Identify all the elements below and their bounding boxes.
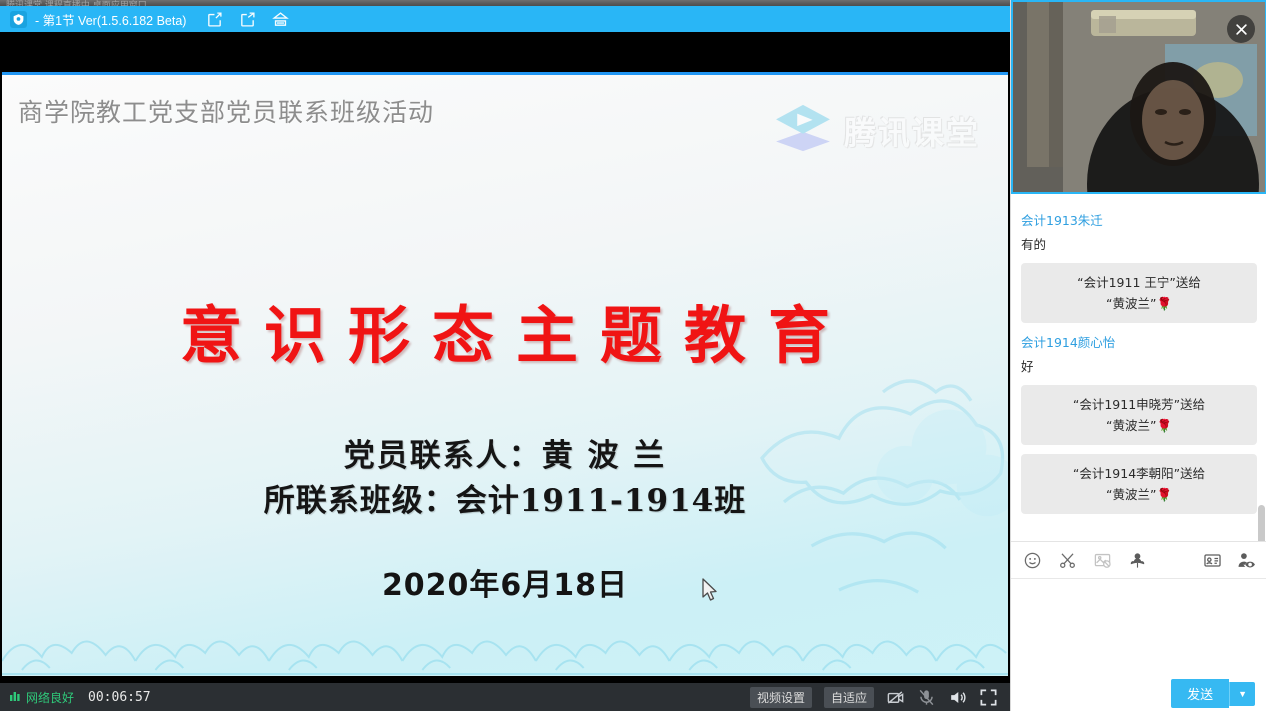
slide-contact-line: 党员联系人：黄 波 兰 bbox=[2, 430, 1008, 475]
upload-home-icon[interactable] bbox=[272, 11, 289, 28]
gift-line-2: “黄波兰”🌹 bbox=[1029, 293, 1249, 314]
fullscreen-icon[interactable] bbox=[979, 688, 998, 707]
slide-class-line: 所联系班级：会计1911-1914班 bbox=[2, 475, 1008, 520]
edit-square-icon[interactable] bbox=[206, 11, 223, 28]
emoji-smiley-icon[interactable] bbox=[1023, 551, 1042, 570]
presenter-video[interactable] bbox=[1011, 0, 1266, 194]
gift-line-1: “会计1911申晓芳”送给 bbox=[1029, 394, 1249, 415]
chat-sender-name: 会计1914颜心怡 bbox=[1021, 332, 1257, 351]
image-disabled-icon bbox=[1093, 551, 1112, 570]
right-side-panel: 会计1913朱迁 有的 “会计1911 王宁”送给 “黄波兰”🌹 会计1914颜… bbox=[1010, 0, 1266, 711]
graduation-cap-play-icon bbox=[772, 103, 834, 158]
chat-toolbar bbox=[1011, 541, 1266, 579]
gift-receiver: “黄波兰” bbox=[1106, 296, 1156, 311]
chat-sender-name: 会计1913朱迁 bbox=[1021, 210, 1257, 229]
flower-gift-icon[interactable] bbox=[1128, 551, 1147, 570]
chat-item: 会计1913朱迁 有的 bbox=[1021, 210, 1257, 253]
gift-receiver: “黄波兰” bbox=[1106, 418, 1156, 433]
adaptive-quality-button[interactable]: 自适应 bbox=[824, 687, 874, 708]
video-settings-button[interactable]: 视频设置 bbox=[750, 687, 812, 708]
player-actions: 视频设置 自适应 bbox=[750, 687, 1010, 708]
chevron-down-icon[interactable]: ▼ bbox=[1229, 682, 1255, 706]
chat-message-text: 好 bbox=[1021, 356, 1257, 375]
network-status-label: 网络良好 bbox=[26, 689, 74, 706]
presentation-slide[interactable]: 商学院教工党支部党员联系班级活动 腾讯课堂 意识形态主题教育 党员联系人：黄 波… bbox=[2, 72, 1008, 676]
elapsed-time: 00:06:57 bbox=[88, 690, 151, 705]
player-control-bar: 网络良好 00:06:57 视频设置 自适应 bbox=[0, 683, 1010, 711]
gift-line-2: “黄波兰”🌹 bbox=[1029, 415, 1249, 436]
app-root: 腾讯课堂 课程直播中 桌面应用窗口 - 第1节 Ver(1.5.6.182 Be… bbox=[0, 0, 1266, 711]
mic-muted-icon[interactable] bbox=[917, 688, 936, 707]
slide-header-title: 商学院教工党支部党员联系班级活动 bbox=[18, 93, 434, 129]
chat-send-row: 发送 ▼ bbox=[1011, 676, 1266, 711]
rose-emoji-icon: 🌹 bbox=[1156, 296, 1172, 311]
titlebar-actions bbox=[206, 11, 289, 28]
gift-receiver: “黄波兰” bbox=[1106, 487, 1156, 502]
signal-bars-icon bbox=[10, 688, 22, 706]
chat-scrollbar-track[interactable] bbox=[1258, 196, 1265, 541]
network-status: 网络良好 bbox=[10, 688, 74, 706]
watermark-text: 腾讯课堂 bbox=[844, 108, 980, 154]
speaker-on-icon[interactable] bbox=[948, 688, 967, 707]
chat-item: 会计1914颜心怡 好 bbox=[1021, 332, 1257, 375]
send-button[interactable]: 发送 bbox=[1171, 679, 1229, 708]
gift-line-1: “会计1911 王宁”送给 bbox=[1029, 272, 1249, 293]
chat-message-list[interactable]: 会计1913朱迁 有的 “会计1911 王宁”送给 “黄波兰”🌹 会计1914颜… bbox=[1011, 196, 1266, 541]
rose-emoji-icon: 🌹 bbox=[1156, 418, 1172, 433]
gift-bubble: “会计1914李朝阳”送给 “黄波兰”🌹 bbox=[1021, 454, 1257, 514]
rose-emoji-icon: 🌹 bbox=[1156, 487, 1172, 502]
gift-bubble: “会计1911申晓芳”送给 “黄波兰”🌹 bbox=[1021, 385, 1257, 445]
name-card-icon[interactable] bbox=[1203, 551, 1222, 570]
player-letterbox-top bbox=[0, 32, 1010, 72]
gift-line-1: “会计1914李朝阳”送给 bbox=[1029, 463, 1249, 484]
slide-main-title: 意识形态主题教育 bbox=[2, 285, 1008, 375]
chat-message-text: 有的 bbox=[1021, 234, 1257, 253]
camera-off-icon[interactable] bbox=[886, 688, 905, 707]
tencent-ketang-watermark: 腾讯课堂 bbox=[772, 103, 980, 158]
window-title: - 第1节 Ver(1.5.6.182 Beta) bbox=[35, 10, 186, 29]
gift-line-2: “黄波兰”🌹 bbox=[1029, 484, 1249, 505]
slide-date: 2020年6月18日 bbox=[2, 560, 1008, 604]
scissors-screenshot-icon[interactable] bbox=[1058, 551, 1077, 570]
person-eye-icon[interactable] bbox=[1236, 551, 1255, 570]
share-export-icon[interactable] bbox=[239, 11, 256, 28]
shield-logo-icon bbox=[10, 11, 27, 28]
video-player: 商学院教工党支部党员联系班级活动 腾讯课堂 意识形态主题教育 党员联系人：黄 波… bbox=[0, 32, 1010, 711]
chat-toolbar-right bbox=[1203, 551, 1255, 570]
gift-bubble: “会计1911 王宁”送给 “黄波兰”🌹 bbox=[1021, 263, 1257, 323]
close-icon[interactable] bbox=[1227, 15, 1255, 43]
chat-input[interactable] bbox=[1011, 580, 1266, 676]
chat-scrollbar-thumb[interactable] bbox=[1258, 505, 1265, 545]
